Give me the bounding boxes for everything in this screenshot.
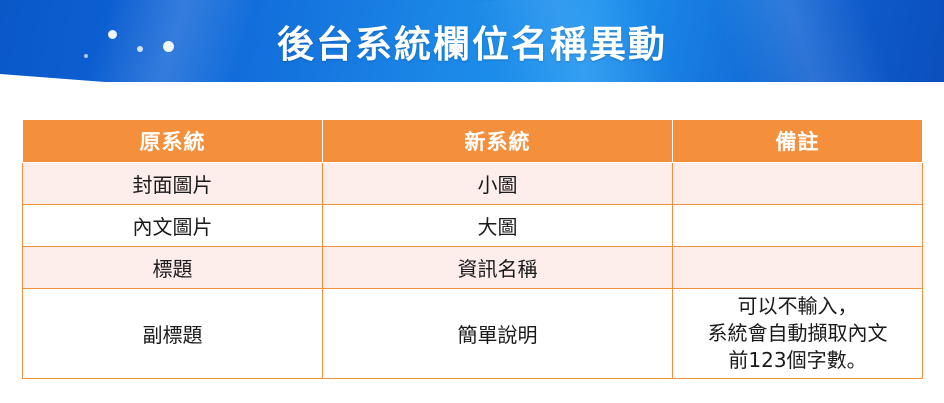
- cell-note: [673, 247, 923, 289]
- cell-old-system: 標題: [23, 247, 323, 289]
- field-mapping-table: 原系統 新系統 備註 封面圖片 小圖 內文圖片 大圖 標題: [22, 119, 923, 379]
- cell-old-system: 封面圖片: [23, 163, 323, 205]
- note-line: 前123個字數。: [681, 347, 914, 374]
- slide: 後台系統欄位名稱異動 原系統 新系統 備註 封面圖片 小圖: [0, 0, 944, 403]
- page-title: 後台系統欄位名稱異動: [0, 0, 944, 82]
- table-row: 封面圖片 小圖: [23, 163, 923, 205]
- cell-new-system: 簡單說明: [323, 289, 673, 379]
- cell-new-system: 小圖: [323, 163, 673, 205]
- cell-new-system: 大圖: [323, 205, 673, 247]
- cell-note: [673, 163, 923, 205]
- note-line: 可以不輸入，: [681, 293, 914, 320]
- field-mapping-table-wrapper: 原系統 新系統 備註 封面圖片 小圖 內文圖片 大圖 標題: [22, 119, 922, 379]
- table-row: 副標題 簡單說明 可以不輸入， 系統會自動擷取內文 前123個字數。: [23, 289, 923, 379]
- cell-note: [673, 205, 923, 247]
- cell-old-system: 內文圖片: [23, 205, 323, 247]
- table-row: 標題 資訊名稱: [23, 247, 923, 289]
- note-line: 系統會自動擷取內文: [681, 320, 914, 347]
- column-header-note: 備註: [673, 120, 923, 163]
- cell-old-system: 副標題: [23, 289, 323, 379]
- cell-new-system: 資訊名稱: [323, 247, 673, 289]
- table-header-row: 原系統 新系統 備註: [23, 120, 923, 163]
- column-header-new-system: 新系統: [323, 120, 673, 163]
- column-header-old-system: 原系統: [23, 120, 323, 163]
- bottom-strip: [0, 395, 944, 403]
- cell-note: 可以不輸入， 系統會自動擷取內文 前123個字數。: [673, 289, 923, 379]
- table-row: 內文圖片 大圖: [23, 205, 923, 247]
- header-banner: 後台系統欄位名稱異動: [0, 0, 944, 82]
